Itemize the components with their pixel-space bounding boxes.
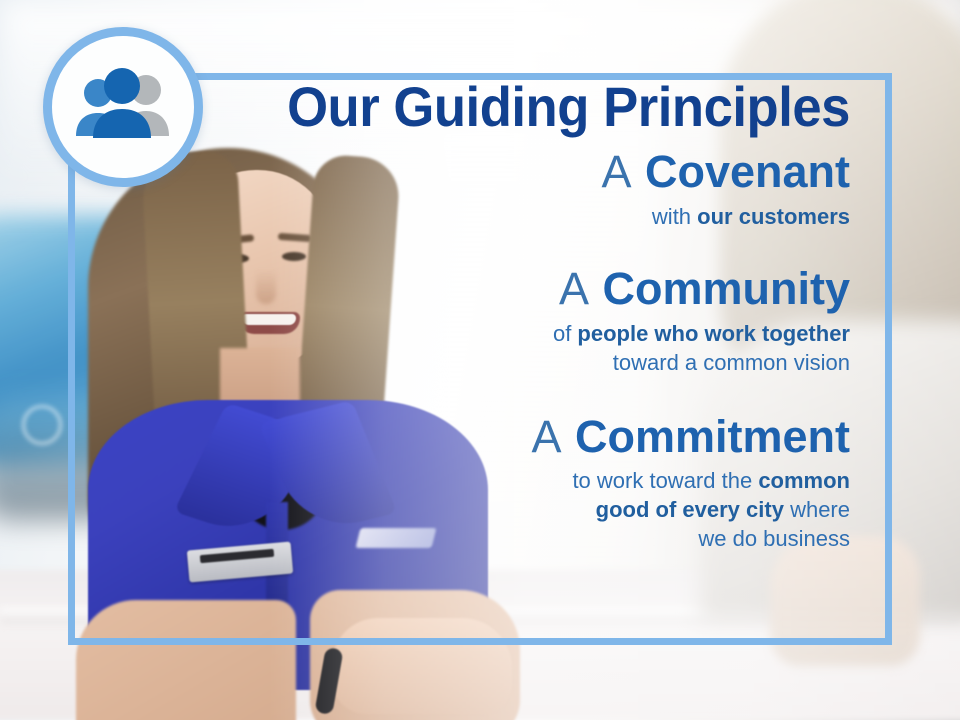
sub-line: we do business (698, 526, 850, 551)
sub-segment: of (553, 321, 577, 346)
sub-segment-bold: common (758, 468, 850, 493)
sub-segment-bold: people who work together (577, 321, 850, 346)
guiding-principles-poster: Our Guiding Principles A Covenant with o… (0, 0, 960, 720)
principle-subtext: of people who work together toward a com… (200, 319, 850, 377)
principle-community: A Community of people who work together … (200, 265, 850, 377)
principle-heading: A Commitment (200, 413, 850, 461)
principle-lead: A (601, 146, 632, 197)
sub-line: to work toward the common (572, 468, 850, 493)
people-group-icon (71, 68, 175, 146)
people-badge (43, 27, 203, 187)
principle-lead: A (531, 411, 562, 462)
principle-subtext: with our customers (200, 202, 850, 231)
sub-line: of people who work together (553, 321, 850, 346)
principle-subtext: to work toward the common good of every … (200, 466, 850, 553)
sub-segment: to work toward the (572, 468, 758, 493)
sub-line: toward a common vision (613, 350, 850, 375)
sub-line: good of every city where (596, 497, 850, 522)
principle-heading: A Community (200, 265, 850, 313)
principle-lead: A (559, 263, 590, 314)
principle-heading: A Covenant (200, 148, 850, 196)
sub-segment: with (652, 204, 697, 229)
sub-segment-bold: good of every city (596, 497, 784, 522)
sub-segment-bold: our customers (697, 204, 850, 229)
principle-keyword: Covenant (645, 146, 850, 197)
principle-commitment: A Commitment to work toward the common g… (200, 413, 850, 554)
principle-keyword: Commitment (575, 411, 850, 462)
sub-line: with our customers (652, 204, 850, 229)
principle-keyword: Community (603, 263, 851, 314)
poster-text: Our Guiding Principles A Covenant with o… (200, 78, 872, 553)
principle-covenant: A Covenant with our customers (200, 148, 850, 231)
page-title: Our Guiding Principles (239, 78, 850, 136)
sub-segment: where (784, 497, 850, 522)
